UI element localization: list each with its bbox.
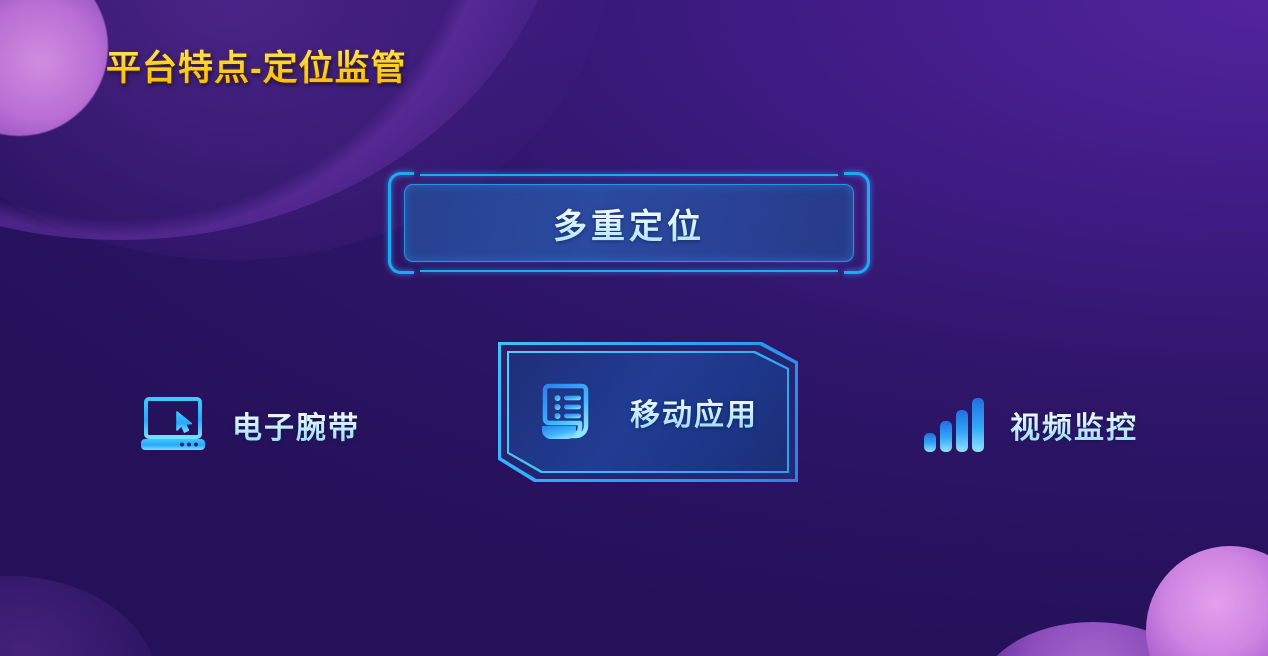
hero-card[interactable]: 多重定位 bbox=[388, 172, 870, 274]
feature-row: 电子腕带 bbox=[0, 336, 1268, 496]
feature-label-mobile-app: 移动应用 bbox=[630, 390, 758, 434]
background-circle-top-left bbox=[0, 0, 108, 136]
hero-label: 多重定位 bbox=[553, 199, 705, 248]
feature-label-video-monitoring: 视频监控 bbox=[1010, 403, 1138, 447]
feature-label-wristband: 电子腕带 bbox=[232, 403, 360, 447]
background-glow-bottom-left bbox=[0, 576, 160, 656]
feature-item-mobile-app[interactable]: 移动应用 bbox=[498, 342, 798, 482]
background-circle-bottom-center-right bbox=[978, 622, 1208, 656]
background-circle-bottom-right bbox=[1146, 546, 1268, 656]
page-title: 平台特点-定位监管 bbox=[106, 40, 407, 91]
feature-item-video-monitoring[interactable]: 视频监控 bbox=[922, 394, 1138, 456]
signal-bars-icon bbox=[922, 394, 988, 456]
bracket-rail-bottom bbox=[420, 270, 838, 272]
document-list-icon bbox=[532, 376, 604, 448]
slide-canvas: 平台特点-定位监管 多重定位 bbox=[0, 0, 1268, 656]
feature-item-wristband[interactable]: 电子腕带 bbox=[138, 394, 360, 456]
bracket-rail-top bbox=[420, 174, 838, 176]
laptop-cursor-icon bbox=[138, 394, 210, 456]
hero-card-body: 多重定位 bbox=[404, 184, 854, 262]
